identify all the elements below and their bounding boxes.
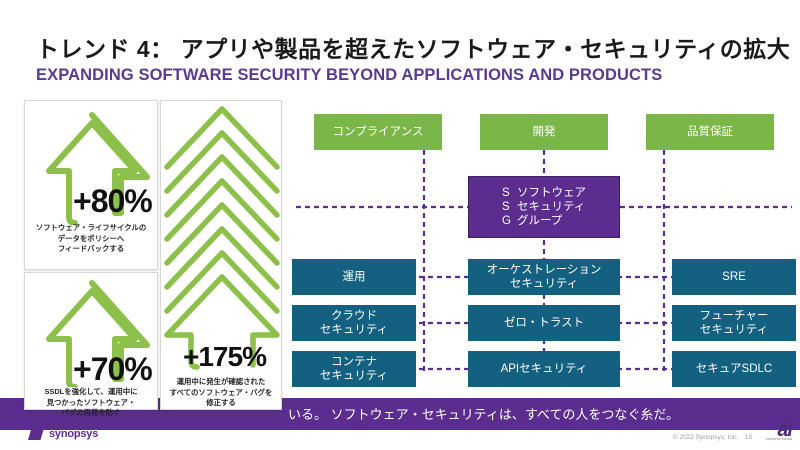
- stat-value-70: +70%: [73, 351, 152, 388]
- page-title-jp: トレンド 4： アプリや製品を超えたソフトウェア・セキュリティの拡大: [36, 30, 790, 64]
- column-header-development[interactable]: 開発: [480, 114, 608, 150]
- column-header-qa[interactable]: 品質保証: [646, 114, 774, 150]
- stat-card-175: +175% 運用中に発生が確認された すべてのソフトウェア・バグを 修正する: [160, 100, 282, 410]
- synopsys-logo: synopsys: [28, 428, 98, 440]
- column-header-development-label: 開発: [533, 125, 556, 139]
- node-row1-right[interactable]: SRE: [672, 259, 796, 295]
- page-subtitle-en: EXPANDING SOFTWARE SECURITY BEYOND APPLI…: [36, 66, 662, 85]
- stat-caption-70: SSDLを強化して、運用中に 見つかったソフトウェア・ バグの再発を防ぐ: [29, 387, 153, 419]
- stat-card-80: +80% ソフトウェア・ライフサイクルの データをポリシーへ フィードバックする: [24, 100, 158, 270]
- synopsys-logo-text: synopsys: [49, 428, 98, 440]
- ssg-label-2: セキュリティ: [517, 201, 585, 213]
- node-row3-right[interactable]: セキュアSDLC: [672, 351, 796, 387]
- synopsys-logo-mark-icon: [28, 428, 44, 440]
- column-header-compliance[interactable]: コンプライアンス: [314, 114, 442, 150]
- stat-value-80: +80%: [73, 183, 152, 220]
- ssg-box[interactable]: Sソフトウェア Sセキュリティ Gグループ: [468, 176, 620, 238]
- node-row3-left[interactable]: コンテナ セキュリティ: [292, 351, 416, 387]
- node-row1-left[interactable]: 運用: [292, 259, 416, 295]
- node-row2-left[interactable]: クラウド セキュリティ: [292, 305, 416, 341]
- stat-card-70: +70% SSDLを強化して、運用中に 見つかったソフトウェア・ バグの再発を防…: [24, 272, 158, 410]
- node-row2-center[interactable]: ゼロ・トラスト: [468, 305, 620, 341]
- ssg-key-1: S: [502, 186, 517, 200]
- ssg-label-3: グループ: [517, 215, 562, 227]
- ssg-key-3: G: [502, 214, 517, 228]
- upward-arrow-icon-175: [161, 103, 283, 373]
- ssg-line-2: Sセキュリティ: [502, 200, 586, 214]
- ssg-label-1: ソフトウェア: [517, 187, 586, 199]
- security-diagram: コンプライアンス 開発 品質保証 Sソフトウェア Sセキュリティ Gグループ: [296, 104, 792, 396]
- column-header-compliance-label: コンプライアンス: [333, 125, 424, 139]
- slide-root: トレンド 4： アプリや製品を超えたソフトウェア・セキュリティの拡大 EXPAN…: [0, 0, 800, 450]
- ai-brand-sublabel: business media: [766, 437, 792, 441]
- ssg-lines: Sソフトウェア Sセキュリティ Gグループ: [502, 186, 586, 228]
- ssg-line-3: Gグループ: [502, 214, 586, 228]
- copyright-text: © 2022 Synopsys, Inc.: [673, 434, 738, 441]
- column-header-qa-label: 品質保証: [687, 125, 733, 139]
- ssg-key-2: S: [502, 200, 517, 214]
- stat-caption-80: ソフトウェア・ライフサイクルの データをポリシーへ フィードバックする: [29, 223, 153, 255]
- ssg-line-1: Sソフトウェア: [502, 186, 586, 200]
- stat-caption-175: 運用中に発生が確認された すべてのソフトウェア・バグを 修正する: [165, 377, 277, 409]
- band-quote-text: いる。 ソフトウェア・セキュリティは、すべての人をつなぐ糸だ。: [288, 404, 679, 423]
- node-row2-right[interactable]: フューチャー セキュリティ: [672, 305, 796, 341]
- node-row3-center[interactable]: APIセキュリティ: [468, 351, 620, 387]
- node-row1-center[interactable]: オーケストレーション セキュリティ: [468, 259, 620, 295]
- stat-value-175: +175%: [183, 341, 266, 373]
- page-number: 13: [745, 434, 752, 441]
